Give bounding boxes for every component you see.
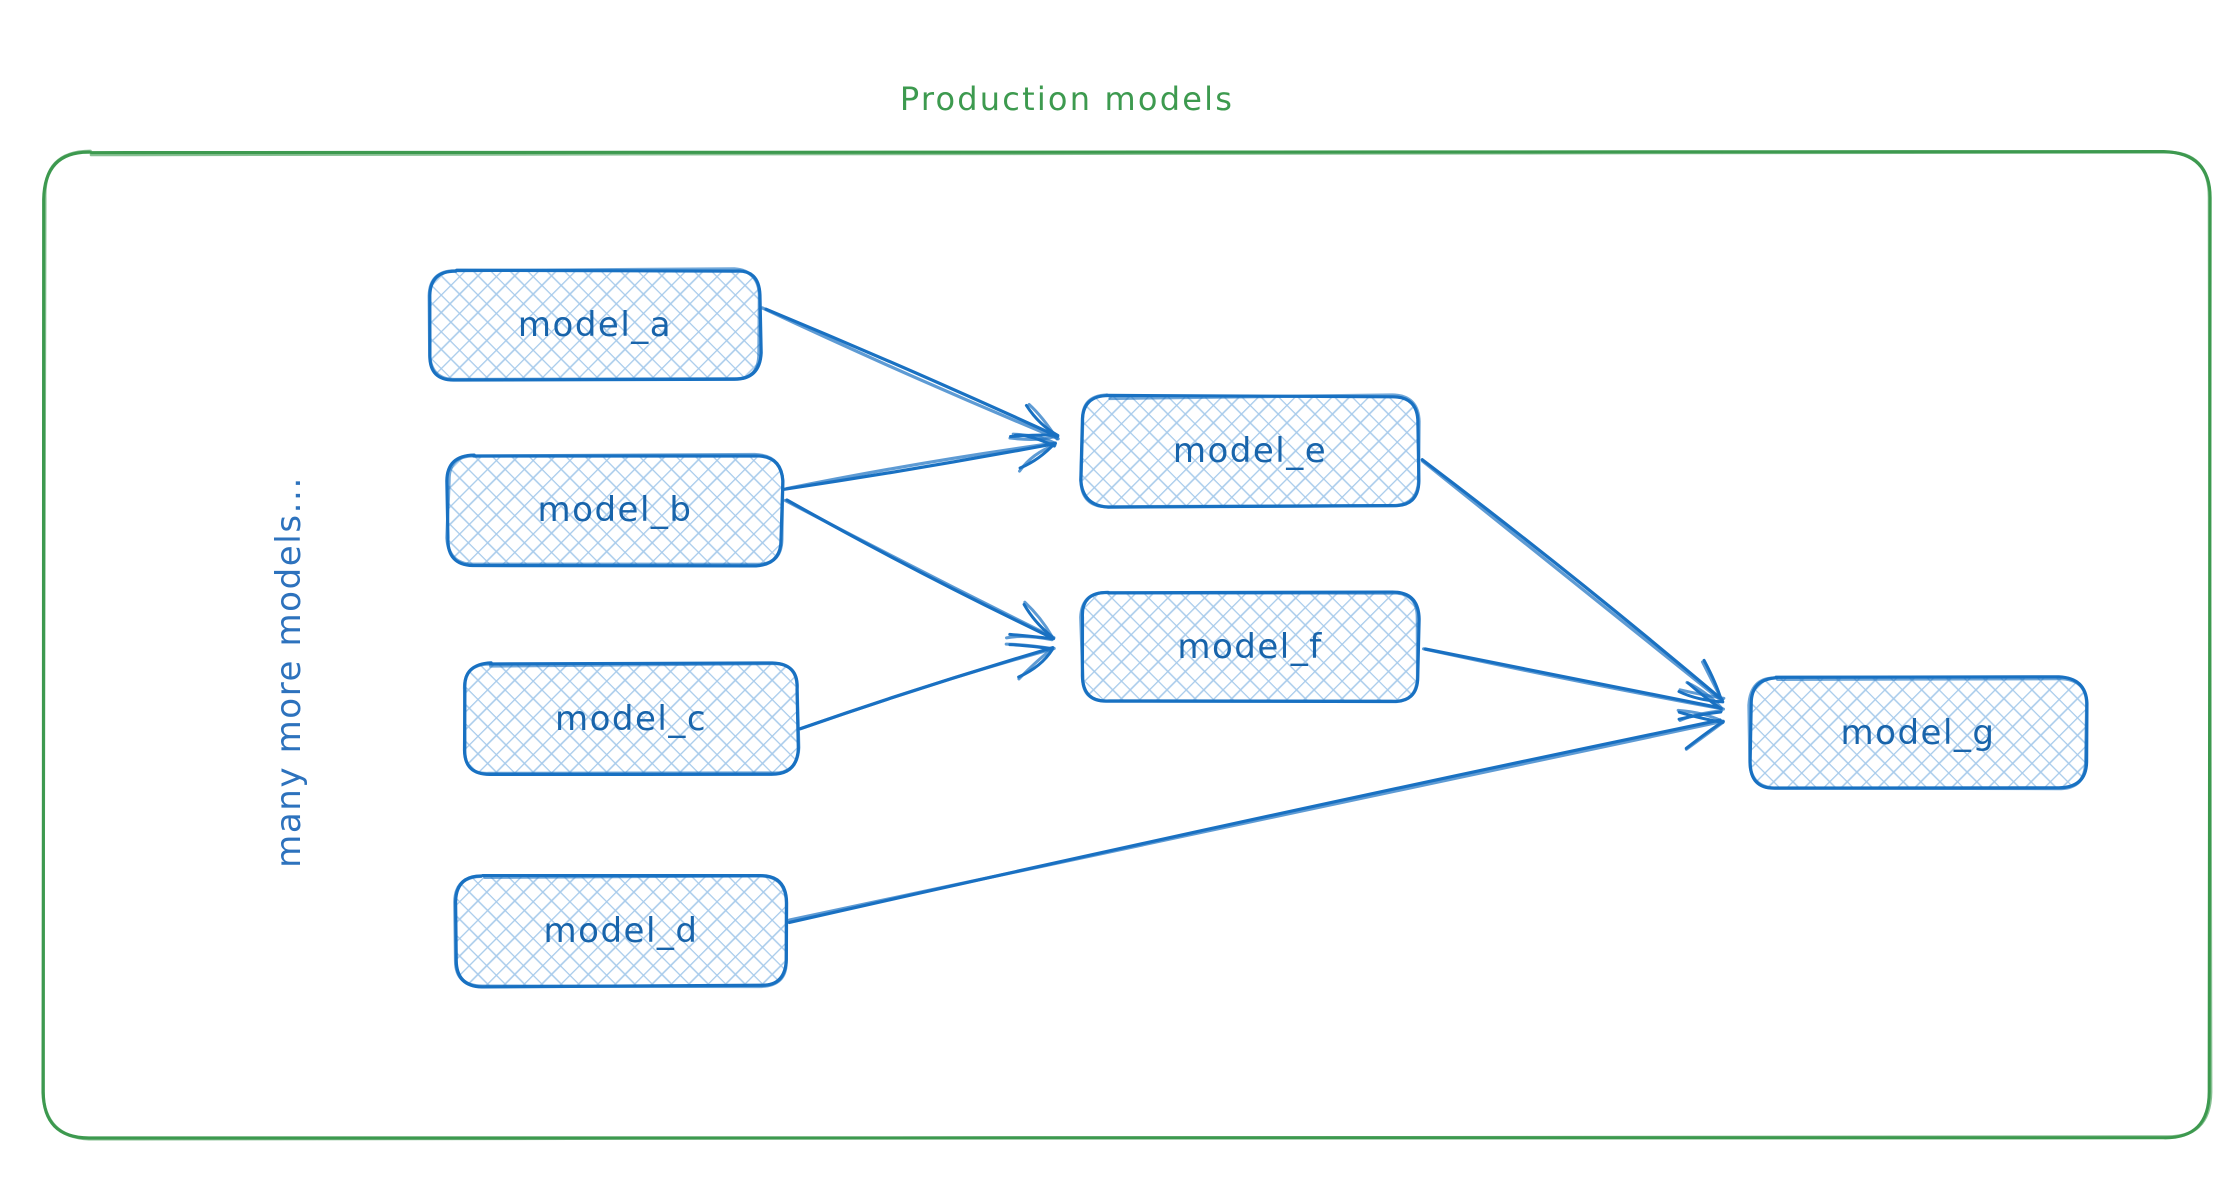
edge-model_e-to-model_g — [1422, 460, 1724, 702]
edge-model_a-to-model_e — [762, 308, 1058, 440]
node-label-model_a: model_a — [518, 305, 672, 345]
node-label-model_b: model_b — [538, 490, 693, 530]
node-label-model_g: model_g — [1841, 713, 1996, 753]
edge-model_b-to-model_f — [785, 500, 1054, 640]
node-label-model_d: model_d — [544, 911, 699, 951]
diagram-canvas: Production models many more models... mo… — [0, 0, 2240, 1188]
edge-model_d-to-model_g — [789, 710, 1723, 922]
node-label-model_c: model_c — [555, 699, 707, 739]
side-note-many-more-models: many more models... — [269, 476, 309, 868]
edge-model_f-to-model_g — [1424, 649, 1724, 721]
group-title: Production models — [900, 80, 1234, 118]
edge-model_b-to-model_e — [784, 434, 1055, 489]
edge-model_c-to-model_f — [800, 644, 1054, 729]
node-label-model_e: model_e — [1173, 431, 1327, 471]
node-label-model_f: model_f — [1177, 627, 1322, 667]
